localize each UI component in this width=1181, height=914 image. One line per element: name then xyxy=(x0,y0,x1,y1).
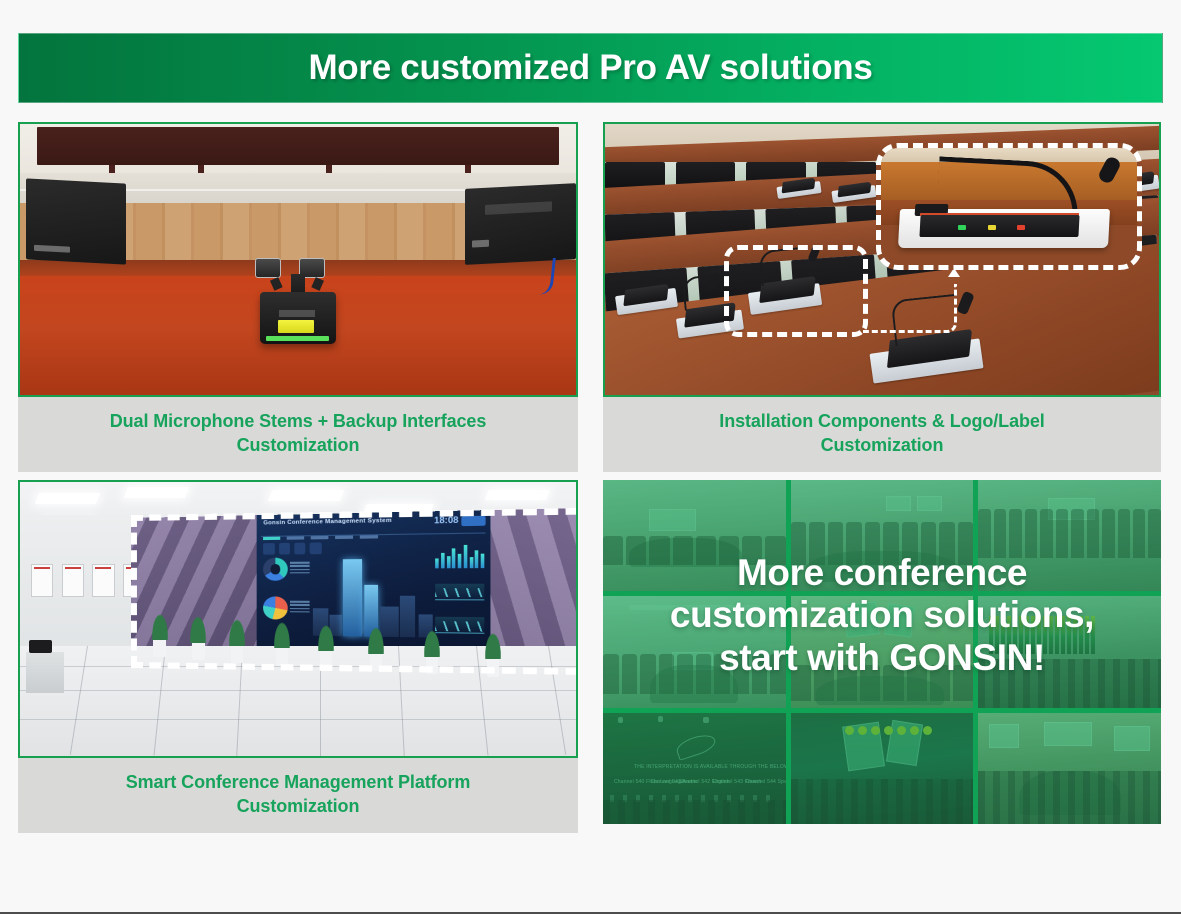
magnified-inset xyxy=(876,143,1142,270)
wall-poster xyxy=(62,564,84,597)
wall-poster xyxy=(31,564,53,597)
speaker-brand-mark xyxy=(485,201,552,214)
caption-smart-conference-platform: Smart Conference Management Platform Cus… xyxy=(18,758,578,833)
photo-dual-microphone-stems xyxy=(18,122,578,397)
wall-poster xyxy=(92,564,114,597)
highlight-dashed-box xyxy=(724,245,868,337)
collage-cell-7: THE INTERPRETATION IS AVAILABLE THROUGH … xyxy=(603,713,786,824)
photo-collage-grid: THE INTERPRETATION IS AVAILABLE THROUGH … xyxy=(603,480,1161,824)
caption-line-1: Installation Components & Logo/Label xyxy=(613,409,1151,433)
microphone-brand-mark xyxy=(279,310,316,317)
loudspeaker-right xyxy=(465,183,576,265)
collage-cell-4 xyxy=(603,596,786,707)
showroom-podium xyxy=(26,652,65,693)
photo-smart-conference-platform: Gonsin Conference Management System 18:0… xyxy=(18,480,578,758)
card-collage-cta[interactable]: THE INTERPRETATION IS AVAILABLE THROUGH … xyxy=(603,480,1161,824)
collage-cell-2 xyxy=(791,480,974,591)
speaker-logo xyxy=(34,245,70,253)
status-led-yellow xyxy=(988,225,996,230)
card-smart-conference-platform[interactable]: Gonsin Conference Management System 18:0… xyxy=(18,480,578,833)
highlight-dashed-box xyxy=(131,508,578,676)
callout-connector-line xyxy=(863,284,957,333)
caption-installation-components: Installation Components & Logo/Label Cus… xyxy=(603,397,1161,472)
caption-dual-microphone-stems: Dual Microphone Stems + Backup Interface… xyxy=(18,397,578,472)
status-led-red xyxy=(1017,225,1025,230)
microphone-capsule-left xyxy=(255,258,281,278)
speaker-port xyxy=(471,240,489,248)
photo-installation-components xyxy=(603,122,1161,397)
loudspeaker-left xyxy=(26,178,126,265)
card-dual-microphone-stems[interactable]: Dual Microphone Stems + Backup Interface… xyxy=(18,122,578,472)
collage-cell-8 xyxy=(791,713,974,824)
collage-cell-5 xyxy=(791,596,974,707)
header-banner: More customized Pro AV solutions xyxy=(18,33,1163,103)
tile-line xyxy=(70,646,88,754)
collage-cell-9 xyxy=(978,713,1161,824)
caption-line-2: Customization xyxy=(613,433,1151,457)
collage-cell-6 xyxy=(978,596,1161,707)
ceiling-light xyxy=(268,490,345,501)
status-led-green xyxy=(958,225,966,230)
microphone-status-led xyxy=(266,336,329,340)
back-bench xyxy=(37,127,560,165)
ceiling-light xyxy=(34,493,100,504)
caption-line-2: Customization xyxy=(28,794,568,818)
tile-line xyxy=(20,690,576,691)
page-title: More customized Pro AV solutions xyxy=(308,48,872,88)
microphone-display-screen xyxy=(278,320,314,332)
caption-line-2: Customization xyxy=(28,433,568,457)
slide-root: More customized Pro AV solutions xyxy=(0,0,1181,914)
tile-line xyxy=(20,719,576,720)
caption-line-1: Smart Conference Management Platform xyxy=(28,770,568,794)
inset-control-panel xyxy=(919,215,1079,237)
collage-cell-3 xyxy=(978,480,1161,591)
ceiling-light xyxy=(123,487,189,498)
caption-line-1: Dual Microphone Stems + Backup Interface… xyxy=(28,409,568,433)
ceiling-light xyxy=(485,490,550,500)
collage-cell-1 xyxy=(603,480,786,591)
card-installation-components[interactable]: Installation Components & Logo/Label Cus… xyxy=(603,122,1161,472)
